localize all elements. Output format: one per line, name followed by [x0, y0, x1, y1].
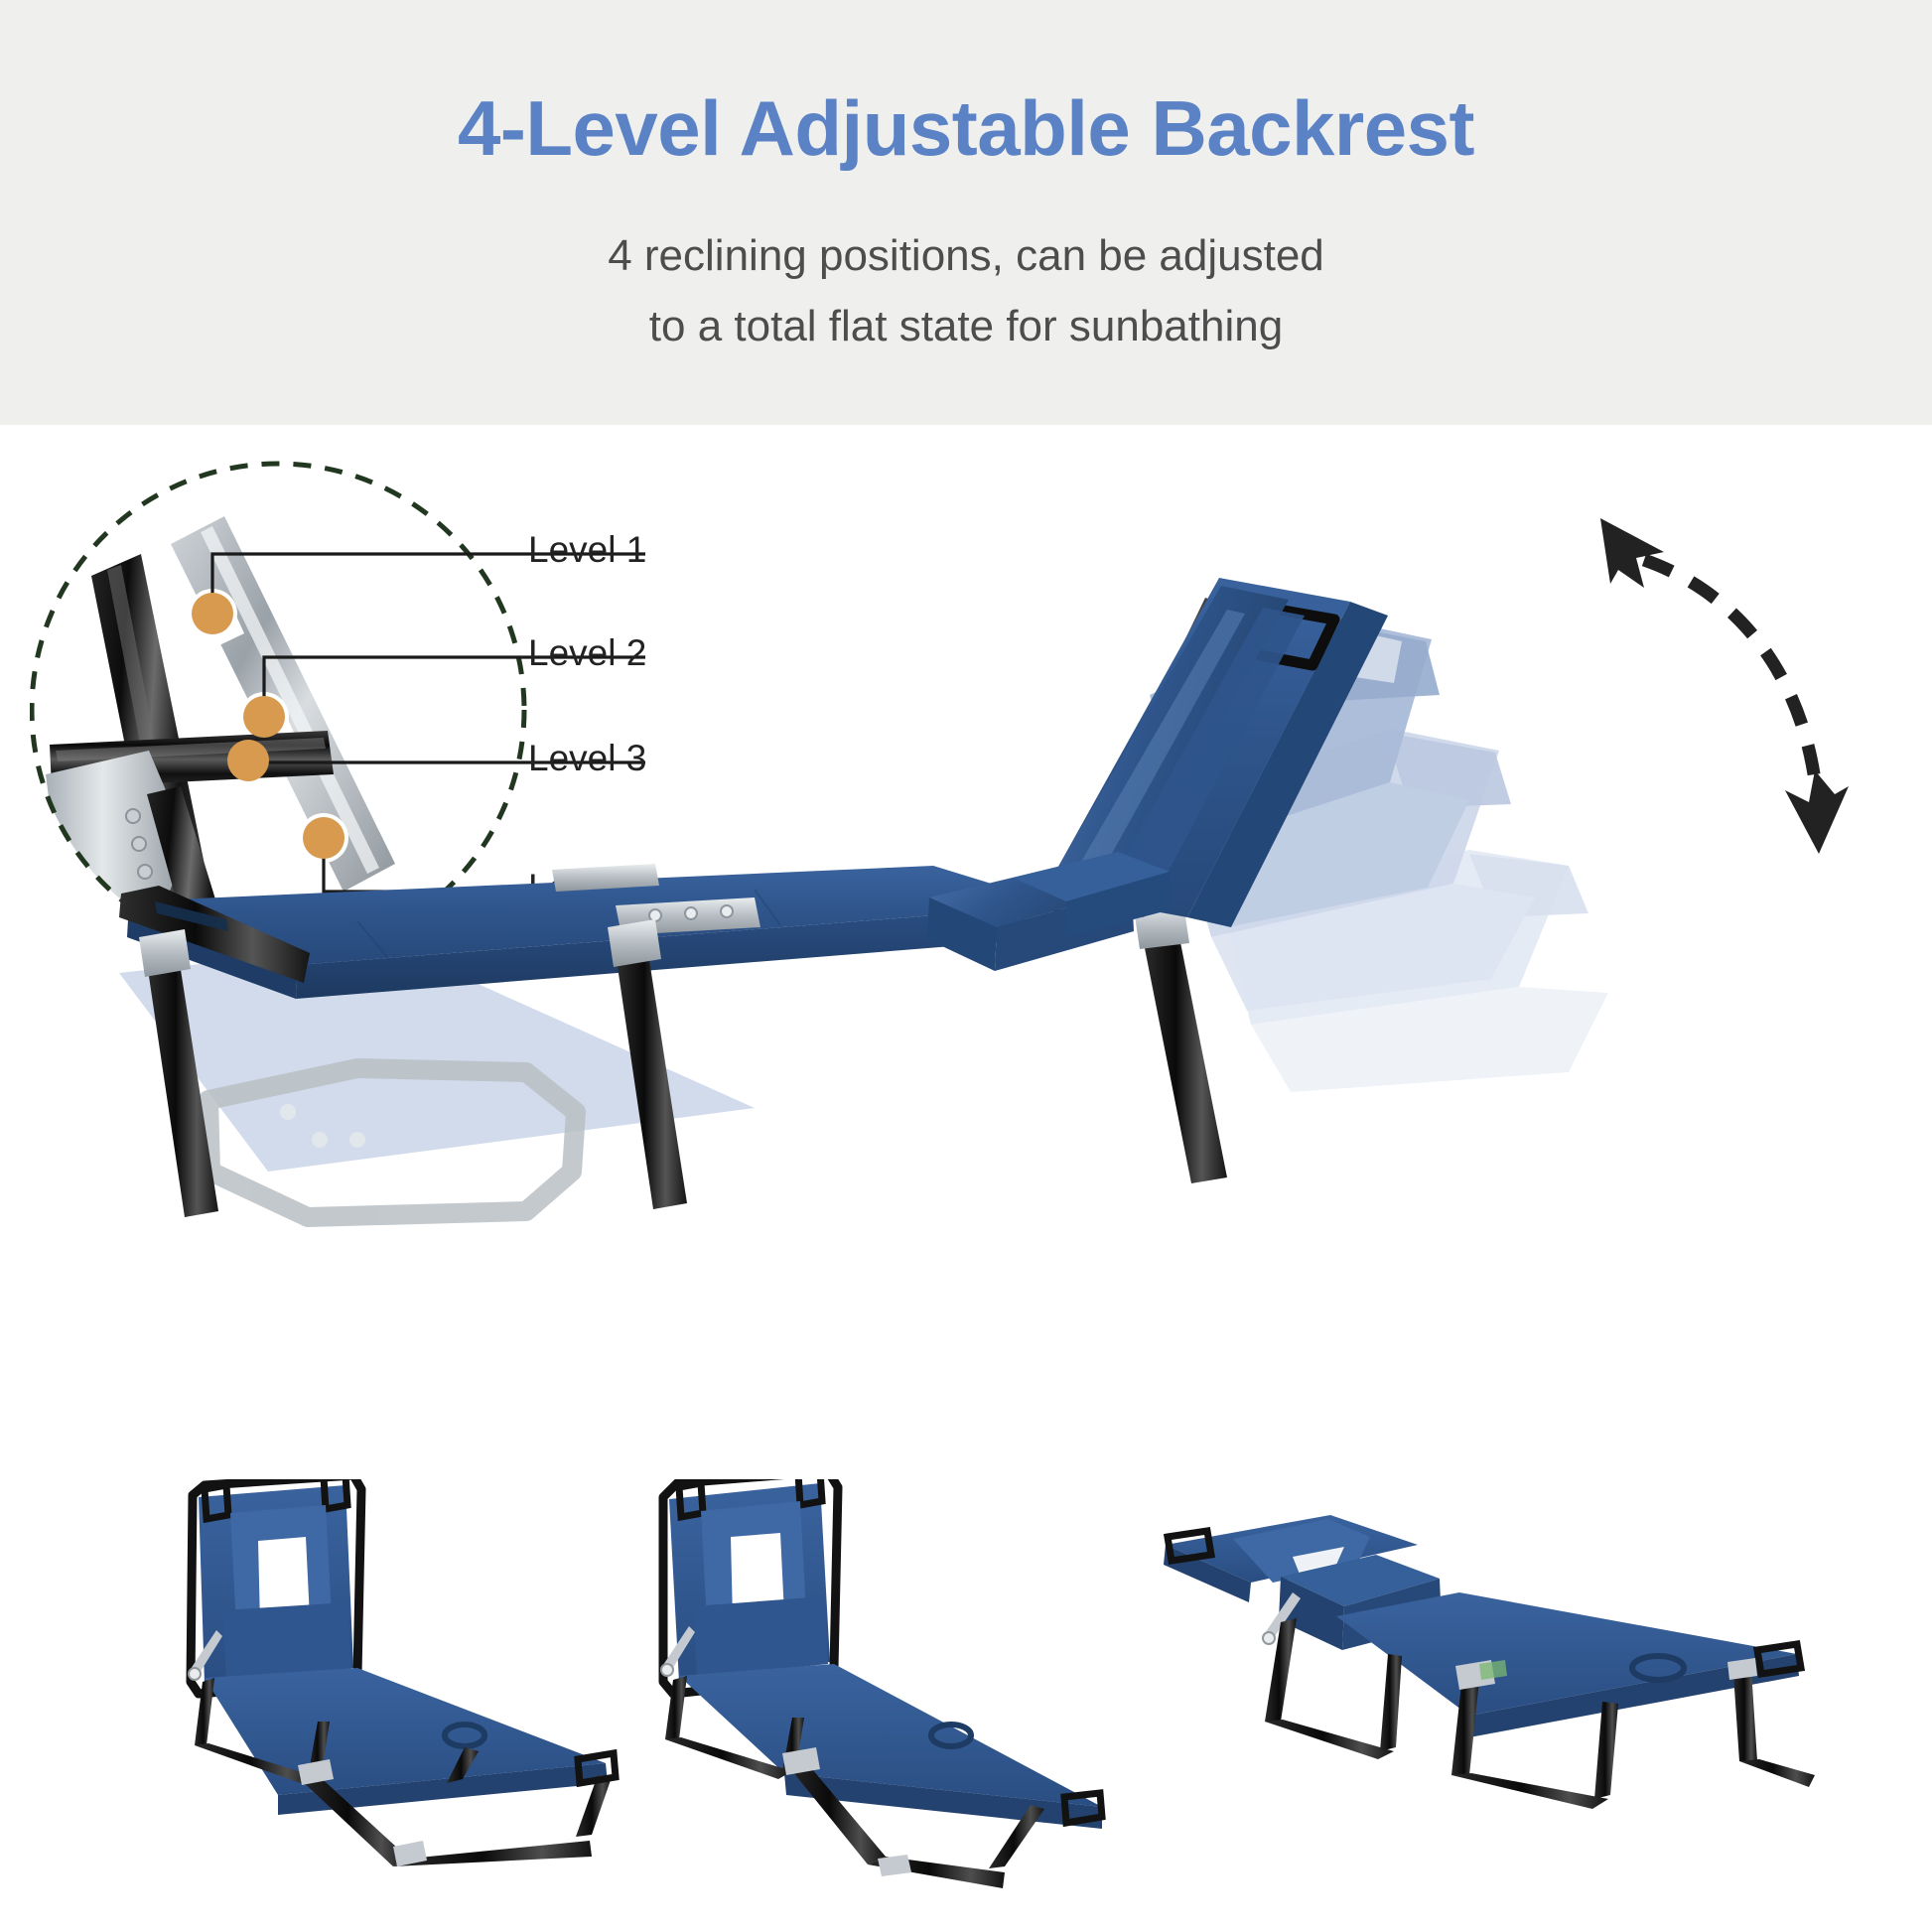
main-chaise-illustration — [60, 516, 1916, 1271]
leg-head-rise — [1380, 1654, 1402, 1751]
lower-back-cushion — [222, 1602, 351, 1680]
seat-fabric-flat — [1336, 1592, 1797, 1716]
thumbnail-position-upright — [149, 1479, 705, 1932]
page-title: 4-Level Adjustable Backrest — [0, 89, 1932, 167]
leg-rear — [1142, 927, 1227, 1183]
lower-back-cushion — [693, 1596, 828, 1678]
leg-bracket-left — [139, 929, 191, 977]
leg-mid-rise — [1594, 1702, 1618, 1799]
thumbnail-position-reclined — [635, 1479, 1191, 1932]
subtitle-line-1: 4 reclining positions, can be adjusted — [0, 220, 1932, 291]
leg-foot-cross — [1739, 1759, 1815, 1787]
leg-head-foot — [1265, 1720, 1394, 1759]
infographic-canvas: 4-Level Adjustable Backrest 4 reclining … — [0, 0, 1932, 1932]
position-thumbnails — [0, 1479, 1932, 1932]
thumbnail-position-flat — [1142, 1479, 1817, 1932]
page-subtitle: 4 reclining positions, can be adjusted t… — [0, 220, 1932, 362]
leg-mid-foot — [1451, 1773, 1608, 1809]
subtitle-line-2: to a total flat state for sunbathing — [0, 291, 1932, 361]
leg-bracket-middle — [608, 919, 661, 967]
